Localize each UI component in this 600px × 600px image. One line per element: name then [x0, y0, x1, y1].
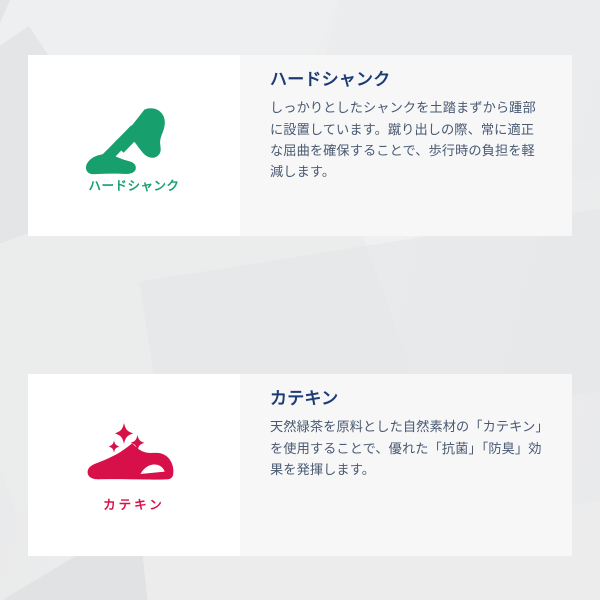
catechin-sparkle-shoe-icon — [74, 418, 194, 498]
icon-caption: ハードシャンク — [88, 180, 179, 193]
icon-caption: カテキン — [103, 499, 165, 512]
hard-shank-foot-icon — [74, 99, 194, 179]
icon-tile: ハードシャンク — [28, 55, 240, 236]
card-body: 天然緑茶を原料とした自然素材の「カテキン」を使用することで、優れた「抗菌」「防臭… — [270, 416, 546, 480]
feature-section: ハードシャンク ハードシャンク しっかりとしたシャンクを土踏まずから踵部に設置し… — [0, 0, 600, 600]
card-body: しっかりとしたシャンクを土踏まずから踵部に設置しています。蹴り出しの際、常に適正… — [270, 97, 546, 183]
card-text-block: ハードシャンク しっかりとしたシャンクを土踏まずから踵部に設置しています。蹴り出… — [240, 55, 572, 193]
card-text-block: カテキン 天然緑茶を原料とした自然素材の「カテキン」を使用することで、優れた「抗… — [240, 374, 572, 490]
icon-tile: カテキン — [28, 374, 240, 556]
sparkle-large — [115, 423, 133, 444]
card-title: ハードシャンク — [270, 69, 546, 90]
sparkle-small — [109, 441, 120, 453]
feature-card-hard-shank[interactable]: ハードシャンク ハードシャンク しっかりとしたシャンクを土踏まずから踵部に設置し… — [28, 55, 572, 236]
card-title: カテキン — [270, 388, 546, 409]
feature-card-catechin[interactable]: カテキン カテキン 天然緑茶を原料とした自然素材の「カテキン」を使用することで、… — [28, 374, 572, 556]
